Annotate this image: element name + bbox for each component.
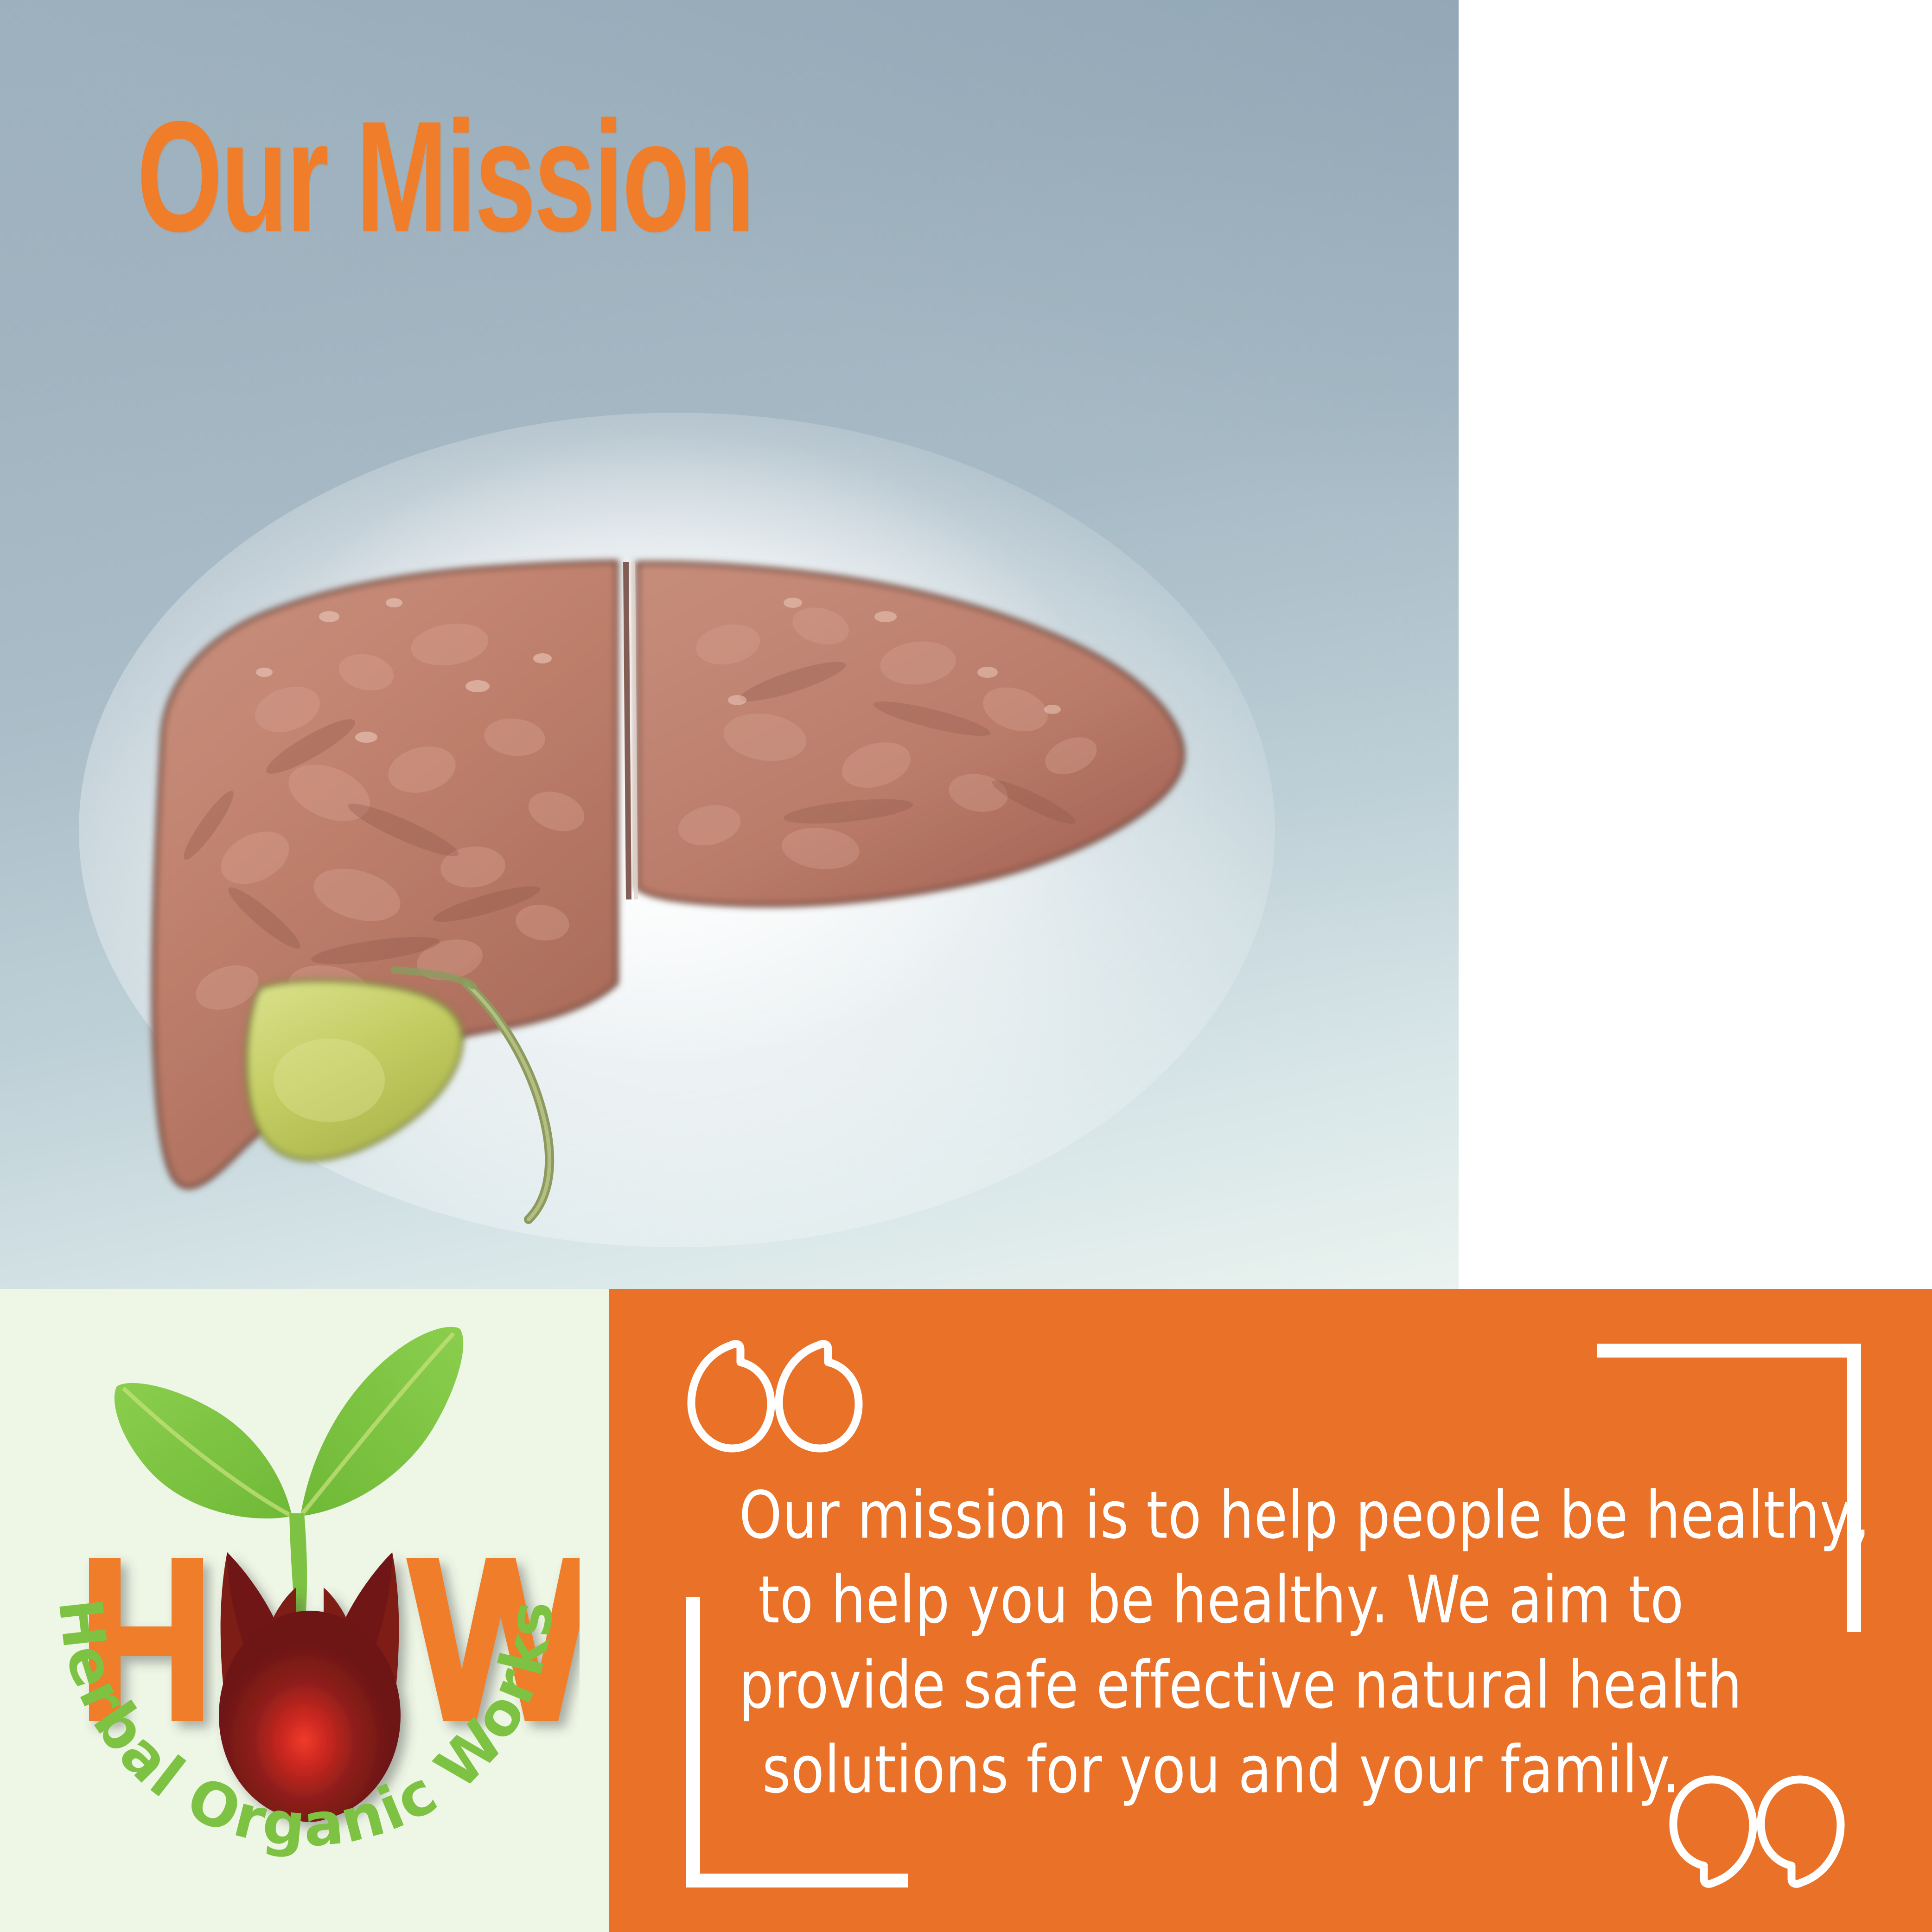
poster-canvas: Our Mission bbox=[0, 0, 1932, 1932]
brand-logo: Herbal Organic Works bbox=[32, 1317, 580, 1901]
mission-statement: Our mission is to help people be healthy… bbox=[739, 1473, 1703, 1813]
mission-line-1: Our mission is to help people be healthy… bbox=[739, 1473, 1703, 1558]
mission-line-2: to help you be healthy. We aim to bbox=[739, 1558, 1703, 1643]
leaf-right-icon bbox=[300, 1327, 463, 1516]
logo-panel: Herbal Organic Works bbox=[0, 1289, 609, 1932]
quote-open-icon bbox=[686, 1340, 864, 1456]
mission-line-4: solutions for you and your family. bbox=[739, 1728, 1703, 1813]
quote-panel: Our mission is to help people be healthy… bbox=[609, 1289, 1932, 1932]
mission-line-3: provide safe effective natural health bbox=[739, 1643, 1703, 1728]
hero-photo-panel: Our Mission bbox=[0, 0, 1459, 1289]
leaf-left-icon bbox=[115, 1383, 292, 1518]
liver-illustration bbox=[70, 385, 1377, 1275]
page-title: Our Mission bbox=[137, 100, 753, 254]
